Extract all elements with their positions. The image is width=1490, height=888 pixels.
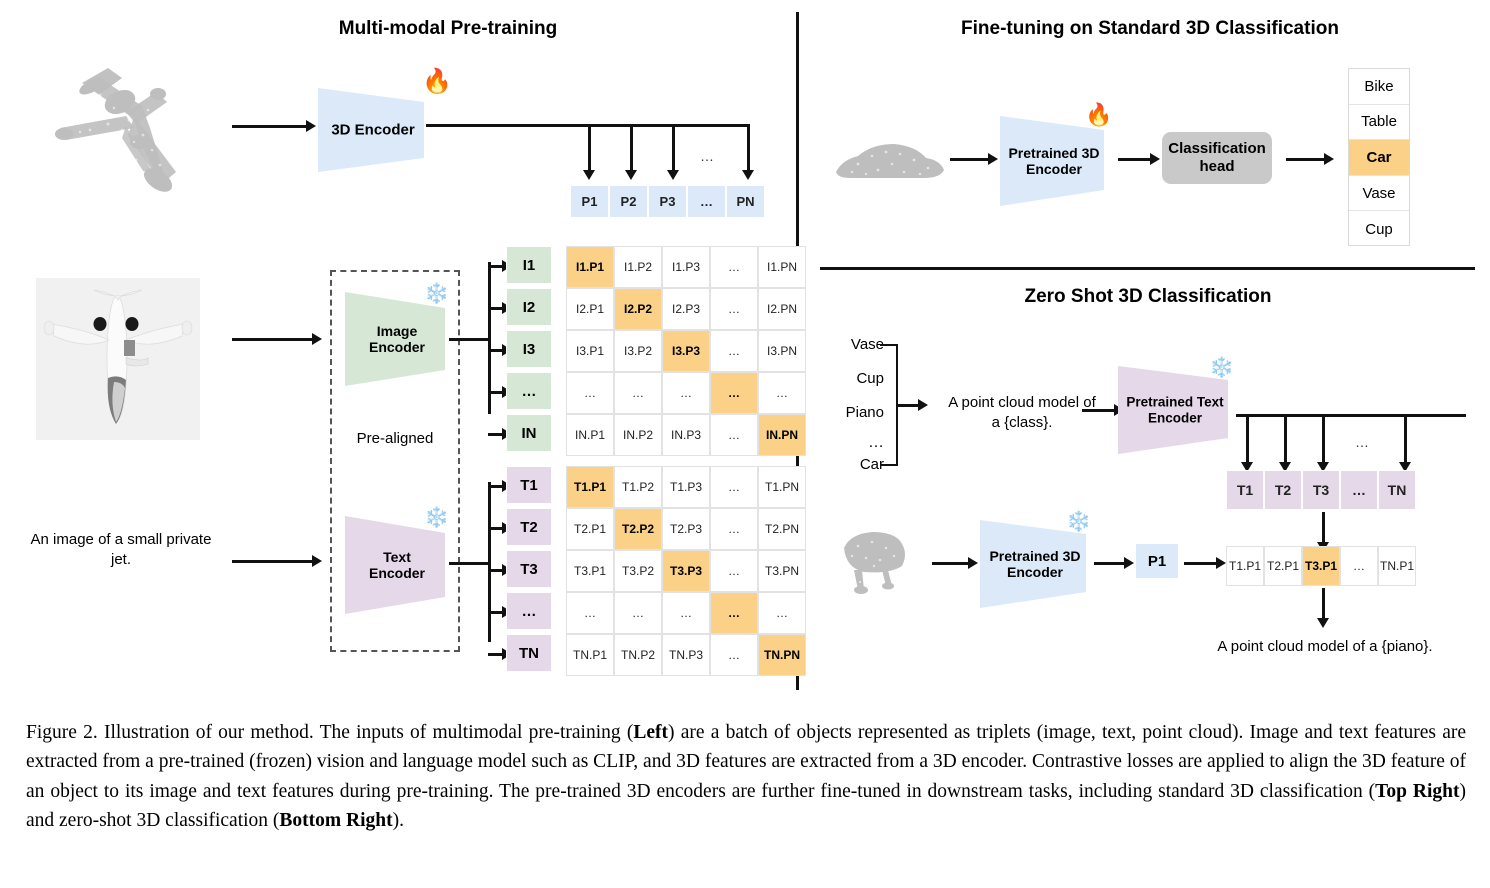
prealigned-label: Pre-aligned xyxy=(330,430,460,447)
piano-point-cloud xyxy=(830,528,920,598)
classification-head-label: Classification head xyxy=(1168,140,1266,176)
cell: T3.P1 xyxy=(1302,546,1340,586)
arrow-piano-to-encoder-head xyxy=(968,557,978,569)
encoder-text-label: Text Encoder xyxy=(345,549,449,581)
encoder-image-label: Image Encoder xyxy=(345,323,449,355)
matrix-cell: I3.P1 xyxy=(566,330,614,372)
matrix-cell: I2.P3 xyxy=(662,288,710,330)
zs-similarity-row: T1.P1T2.P1T3.P1…TN.P1 xyxy=(1226,546,1416,586)
arrow-encoder-to-p1-head xyxy=(1124,557,1134,569)
matrix-cell: T3.P1 xyxy=(566,550,614,592)
matrix-cell: … xyxy=(614,592,662,634)
matrix-cell: … xyxy=(710,246,758,288)
bus-3dencoder-drop-1 xyxy=(588,124,591,172)
bus-zs-drop-2 xyxy=(1284,414,1287,464)
feature-chip: … xyxy=(506,372,552,410)
matrix-cell: I1.P1 xyxy=(566,246,614,288)
feature-chip: TN xyxy=(506,634,552,672)
zs-text-encoder-line2: Encoder xyxy=(1148,410,1202,425)
bottom-right-panel-title: Zero Shot 3D Classification xyxy=(928,286,1368,308)
snowflake-icon-text-encoder: ❄️ xyxy=(424,508,449,528)
rendered-image-box xyxy=(36,278,200,440)
matrix-cell: … xyxy=(662,372,710,414)
prompt-line1: A point cloud model of xyxy=(948,394,1096,411)
matrix-cell: … xyxy=(710,414,758,456)
classification-head-line2: head xyxy=(1199,158,1234,175)
classification-head: Classification head xyxy=(1162,132,1272,184)
cell: T2 xyxy=(1264,470,1302,510)
zs-3d-encoder-line2: Encoder xyxy=(1007,564,1063,580)
class-list-item[interactable]: Cup xyxy=(1349,211,1409,247)
cell: T1.P1 xyxy=(1226,546,1264,586)
arrow-text-to-textencoder xyxy=(232,560,314,563)
matrix-cell: I3.PN xyxy=(758,330,806,372)
encoder-image-line2: Encoder xyxy=(369,339,425,355)
class-bracket-tick-bottom xyxy=(880,464,898,466)
bus-3dencoder-drop-2 xyxy=(630,124,633,172)
matrix-cell: T1.PN xyxy=(758,466,806,508)
matrix-cell: … xyxy=(758,592,806,634)
class-list-item[interactable]: Car xyxy=(1349,140,1409,176)
airplane-point-cloud xyxy=(30,50,240,220)
image-similarity-matrix: I1.P1I1.P2I1.P3…I1.PNI2.P1I2.P2I2.P3…I2.… xyxy=(566,246,806,456)
ft-encoder-line1: Pretrained 3D xyxy=(1008,145,1099,161)
bus-3dencoder-ellipsis: … xyxy=(700,148,715,164)
bus-zs-ellipsis: … xyxy=(1355,434,1370,450)
matrix-cell: … xyxy=(566,592,614,634)
matrix-cell: I3.P2 xyxy=(614,330,662,372)
bus-text-encoder-spine xyxy=(488,482,491,642)
bus-zs-text xyxy=(1236,414,1466,417)
cell: PN xyxy=(726,185,765,218)
feature-chip: I2 xyxy=(506,288,552,326)
text-input-caption: An image of a small private jet. xyxy=(26,530,216,571)
arrow-p1-to-simrow-head xyxy=(1216,557,1226,569)
zs-text-feature-row: T1T2T3…TN xyxy=(1226,470,1416,510)
arrow-head-to-classes xyxy=(1286,158,1326,161)
class-list-item[interactable]: Table xyxy=(1349,105,1409,141)
bus-image-encoder xyxy=(449,338,491,341)
cell: T2.P1 xyxy=(1264,546,1302,586)
classification-head-line1: Classification xyxy=(1168,140,1266,157)
matrix-cell: T1.P3 xyxy=(662,466,710,508)
encoder-pretrained-text: Pretrained Text Encoder xyxy=(1118,366,1232,454)
matrix-row: …………… xyxy=(566,592,806,634)
prompt-template: A point cloud model of a {class}. xyxy=(932,393,1112,434)
prompt-line2: a {class}. xyxy=(992,414,1053,431)
caption-emphasis: Left xyxy=(633,722,668,743)
matrix-cell: T1.P2 xyxy=(614,466,662,508)
bus-3dencoder-drop-3-head xyxy=(667,170,679,180)
matrix-cell: … xyxy=(710,508,758,550)
arrow-encoder-to-head xyxy=(1118,158,1152,161)
bus-3dencoder-drop-2-head xyxy=(625,170,637,180)
cell: T1 xyxy=(1226,470,1264,510)
class-list[interactable]: BikeTableCarVaseCup xyxy=(1348,68,1410,246)
matrix-cell: … xyxy=(710,634,758,676)
matrix-cell: … xyxy=(710,592,758,634)
fire-icon: 🔥 xyxy=(422,70,452,94)
left-panel-title: Multi-modal Pre-training xyxy=(248,18,648,40)
zeroshot-class-label: Piano xyxy=(812,404,884,421)
encoder-image-line1: Image xyxy=(377,323,417,339)
zeroshot-class-label: Cup xyxy=(812,370,884,387)
encoder-pretrained-3d-finetune: Pretrained 3D Encoder xyxy=(1000,116,1108,206)
ft-encoder-line2: Encoder xyxy=(1026,161,1082,177)
arrow-head-to-classes-head xyxy=(1324,153,1334,165)
matrix-cell: IN.P1 xyxy=(566,414,614,456)
zs-3d-encoder-line1: Pretrained 3D xyxy=(989,548,1080,564)
snowflake-icon-text-encoder-zs: ❄️ xyxy=(1209,358,1234,378)
matrix-cell: IN.PN xyxy=(758,414,806,456)
matrix-cell: TN.P3 xyxy=(662,634,710,676)
caption-emphasis: Top Right xyxy=(1375,781,1459,802)
bus-zs-drop-4 xyxy=(1404,414,1407,464)
encoder-pretrained-3d-finetune-label: Pretrained 3D Encoder xyxy=(1000,145,1108,177)
matrix-cell: TN.P2 xyxy=(614,634,662,676)
matrix-row: T2.P1T2.P2T2.P3…T2.PN xyxy=(566,508,806,550)
encoder-pretrained-3d-zeroshot-label: Pretrained 3D Encoder xyxy=(980,548,1090,580)
class-list-item[interactable]: Bike xyxy=(1349,69,1409,105)
arrow-encoder-to-p1 xyxy=(1094,562,1126,565)
matrix-row: TN.P1TN.P2TN.P3…TN.PN xyxy=(566,634,806,676)
zs-text-encoder-line1: Pretrained Text xyxy=(1126,394,1223,409)
cell: P2 xyxy=(609,185,648,218)
caption-emphasis: Bottom Right xyxy=(279,810,392,831)
matrix-cell: T2.P3 xyxy=(662,508,710,550)
matrix-row: IN.P1IN.P2IN.P3…IN.PN xyxy=(566,414,806,456)
text-similarity-matrix: T1.P1T1.P2T1.P3…T1.PNT2.P1T2.P2T2.P3…T2.… xyxy=(566,466,806,676)
zeroshot-result: A point cloud model of a {piano}. xyxy=(1170,638,1480,655)
encoder-image: Image Encoder xyxy=(345,292,449,386)
feature-chip: T3 xyxy=(506,550,552,588)
matrix-cell: T3.PN xyxy=(758,550,806,592)
snowflake-icon-image-encoder: ❄️ xyxy=(424,284,449,304)
matrix-row: I2.P1I2.P2I2.P3…I2.PN xyxy=(566,288,806,330)
matrix-cell: I2.P2 xyxy=(614,288,662,330)
arrow-text-to-textencoder-head xyxy=(312,555,322,567)
class-bracket-tick-top xyxy=(880,344,898,346)
matrix-cell: … xyxy=(710,466,758,508)
bus-zs-drop-3 xyxy=(1322,414,1325,464)
arrow-p1-to-simrow xyxy=(1184,562,1218,565)
feature-chip: … xyxy=(506,592,552,630)
matrix-cell: T1.P1 xyxy=(566,466,614,508)
arrow-classes-to-prompt xyxy=(896,404,920,407)
matrix-cell: T2.P1 xyxy=(566,508,614,550)
encoder-3d-label: 3D Encoder xyxy=(318,121,428,138)
bus-zs-drop-1 xyxy=(1246,414,1249,464)
arrow-simrow-to-result xyxy=(1322,588,1325,620)
arrow-encoder-to-head-head xyxy=(1150,153,1160,165)
matrix-cell: TN.P1 xyxy=(566,634,614,676)
feature-chip: T2 xyxy=(506,508,552,546)
zs-point-feature-p1: P1 xyxy=(1136,544,1178,578)
matrix-cell: … xyxy=(566,372,614,414)
arrow-classes-to-prompt-head xyxy=(918,399,928,411)
feature-chip: IN xyxy=(506,414,552,452)
arrow-pointcloud-to-3dencoder-head xyxy=(306,120,316,132)
zeroshot-class-label: Vase xyxy=(812,336,884,353)
matrix-cell: … xyxy=(710,372,758,414)
matrix-cell: … xyxy=(710,550,758,592)
bus-3dencoder-drop-1-head xyxy=(583,170,595,180)
matrix-cell: T2.P2 xyxy=(614,508,662,550)
matrix-row: T3.P1T3.P2T3.P3…T3.PN xyxy=(566,550,806,592)
encoder-3d: 3D Encoder xyxy=(318,88,428,172)
fire-icon-finetune: 🔥 xyxy=(1085,104,1112,126)
car-point-cloud xyxy=(828,130,948,190)
arrow-image-to-imageencoder-head xyxy=(312,333,322,345)
matrix-cell: T3.P3 xyxy=(662,550,710,592)
arrow-simrow-to-result-head xyxy=(1317,618,1329,628)
figure-diagram: Multi-modal Pre-training xyxy=(0,0,1490,700)
bus-3dencoder-drop-4 xyxy=(747,124,750,172)
matrix-cell: I1.P3 xyxy=(662,246,710,288)
feature-chip: I3 xyxy=(506,330,552,368)
point-feature-row: P1P2P3…PN xyxy=(570,185,765,218)
cell: P1 xyxy=(570,185,609,218)
matrix-cell: … xyxy=(710,288,758,330)
encoder-pretrained-text-label: Pretrained Text Encoder xyxy=(1118,394,1232,425)
encoder-text-line2: Encoder xyxy=(369,565,425,581)
cell: T3 xyxy=(1302,470,1340,510)
matrix-cell: … xyxy=(758,372,806,414)
cell: … xyxy=(1340,470,1378,510)
encoder-pretrained-3d-zeroshot: Pretrained 3D Encoder xyxy=(980,520,1090,608)
cell: … xyxy=(1340,546,1378,586)
matrix-cell: TN.PN xyxy=(758,634,806,676)
matrix-cell: … xyxy=(710,330,758,372)
arrow-prompt-to-textencoder xyxy=(1082,409,1116,412)
matrix-cell: I2.PN xyxy=(758,288,806,330)
zeroshot-class-label: … xyxy=(812,434,884,452)
feature-chip: I1 xyxy=(506,246,552,284)
matrix-cell: I1.P2 xyxy=(614,246,662,288)
matrix-cell: IN.P3 xyxy=(662,414,710,456)
matrix-row: T1.P1T1.P2T1.P3…T1.PN xyxy=(566,466,806,508)
cell: … xyxy=(687,185,726,218)
horizontal-divider xyxy=(820,267,1475,270)
figure-caption: Figure 2. Illustration of our method. Th… xyxy=(26,718,1466,835)
bus-3dencoder-drop-3 xyxy=(672,124,675,172)
arrow-piano-to-encoder xyxy=(932,562,970,565)
encoder-text: Text Encoder xyxy=(345,516,449,614)
class-list-item[interactable]: Vase xyxy=(1349,176,1409,212)
matrix-cell: … xyxy=(662,592,710,634)
matrix-cell: I1.PN xyxy=(758,246,806,288)
arrow-image-to-imageencoder xyxy=(232,338,314,341)
matrix-cell: I2.P1 xyxy=(566,288,614,330)
bus-3dencoder-drop-4-head xyxy=(742,170,754,180)
cell: TN xyxy=(1378,470,1416,510)
arrow-pointcloud-to-3dencoder xyxy=(232,125,308,128)
arrow-car-to-encoder xyxy=(950,158,990,161)
bus-text-encoder xyxy=(449,562,491,565)
matrix-cell: IN.P2 xyxy=(614,414,662,456)
matrix-cell: I3.P3 xyxy=(662,330,710,372)
matrix-row: …………… xyxy=(566,372,806,414)
matrix-row: I1.P1I1.P2I1.P3…I1.PN xyxy=(566,246,806,288)
matrix-cell: T3.P2 xyxy=(614,550,662,592)
cell: TN.P1 xyxy=(1378,546,1416,586)
cell: P3 xyxy=(648,185,687,218)
top-right-panel-title: Fine-tuning on Standard 3D Classificatio… xyxy=(880,18,1420,40)
matrix-cell: … xyxy=(614,372,662,414)
zeroshot-class-label: Car xyxy=(812,456,884,473)
arrow-trow-to-simrow xyxy=(1322,512,1325,544)
matrix-cell: T2.PN xyxy=(758,508,806,550)
arrow-car-to-encoder-head xyxy=(988,153,998,165)
snowflake-icon-3d-encoder-zs: ❄️ xyxy=(1066,512,1091,532)
matrix-row: I3.P1I3.P2I3.P3…I3.PN xyxy=(566,330,806,372)
encoder-text-line1: Text xyxy=(383,549,411,565)
feature-chip: T1 xyxy=(506,466,552,504)
